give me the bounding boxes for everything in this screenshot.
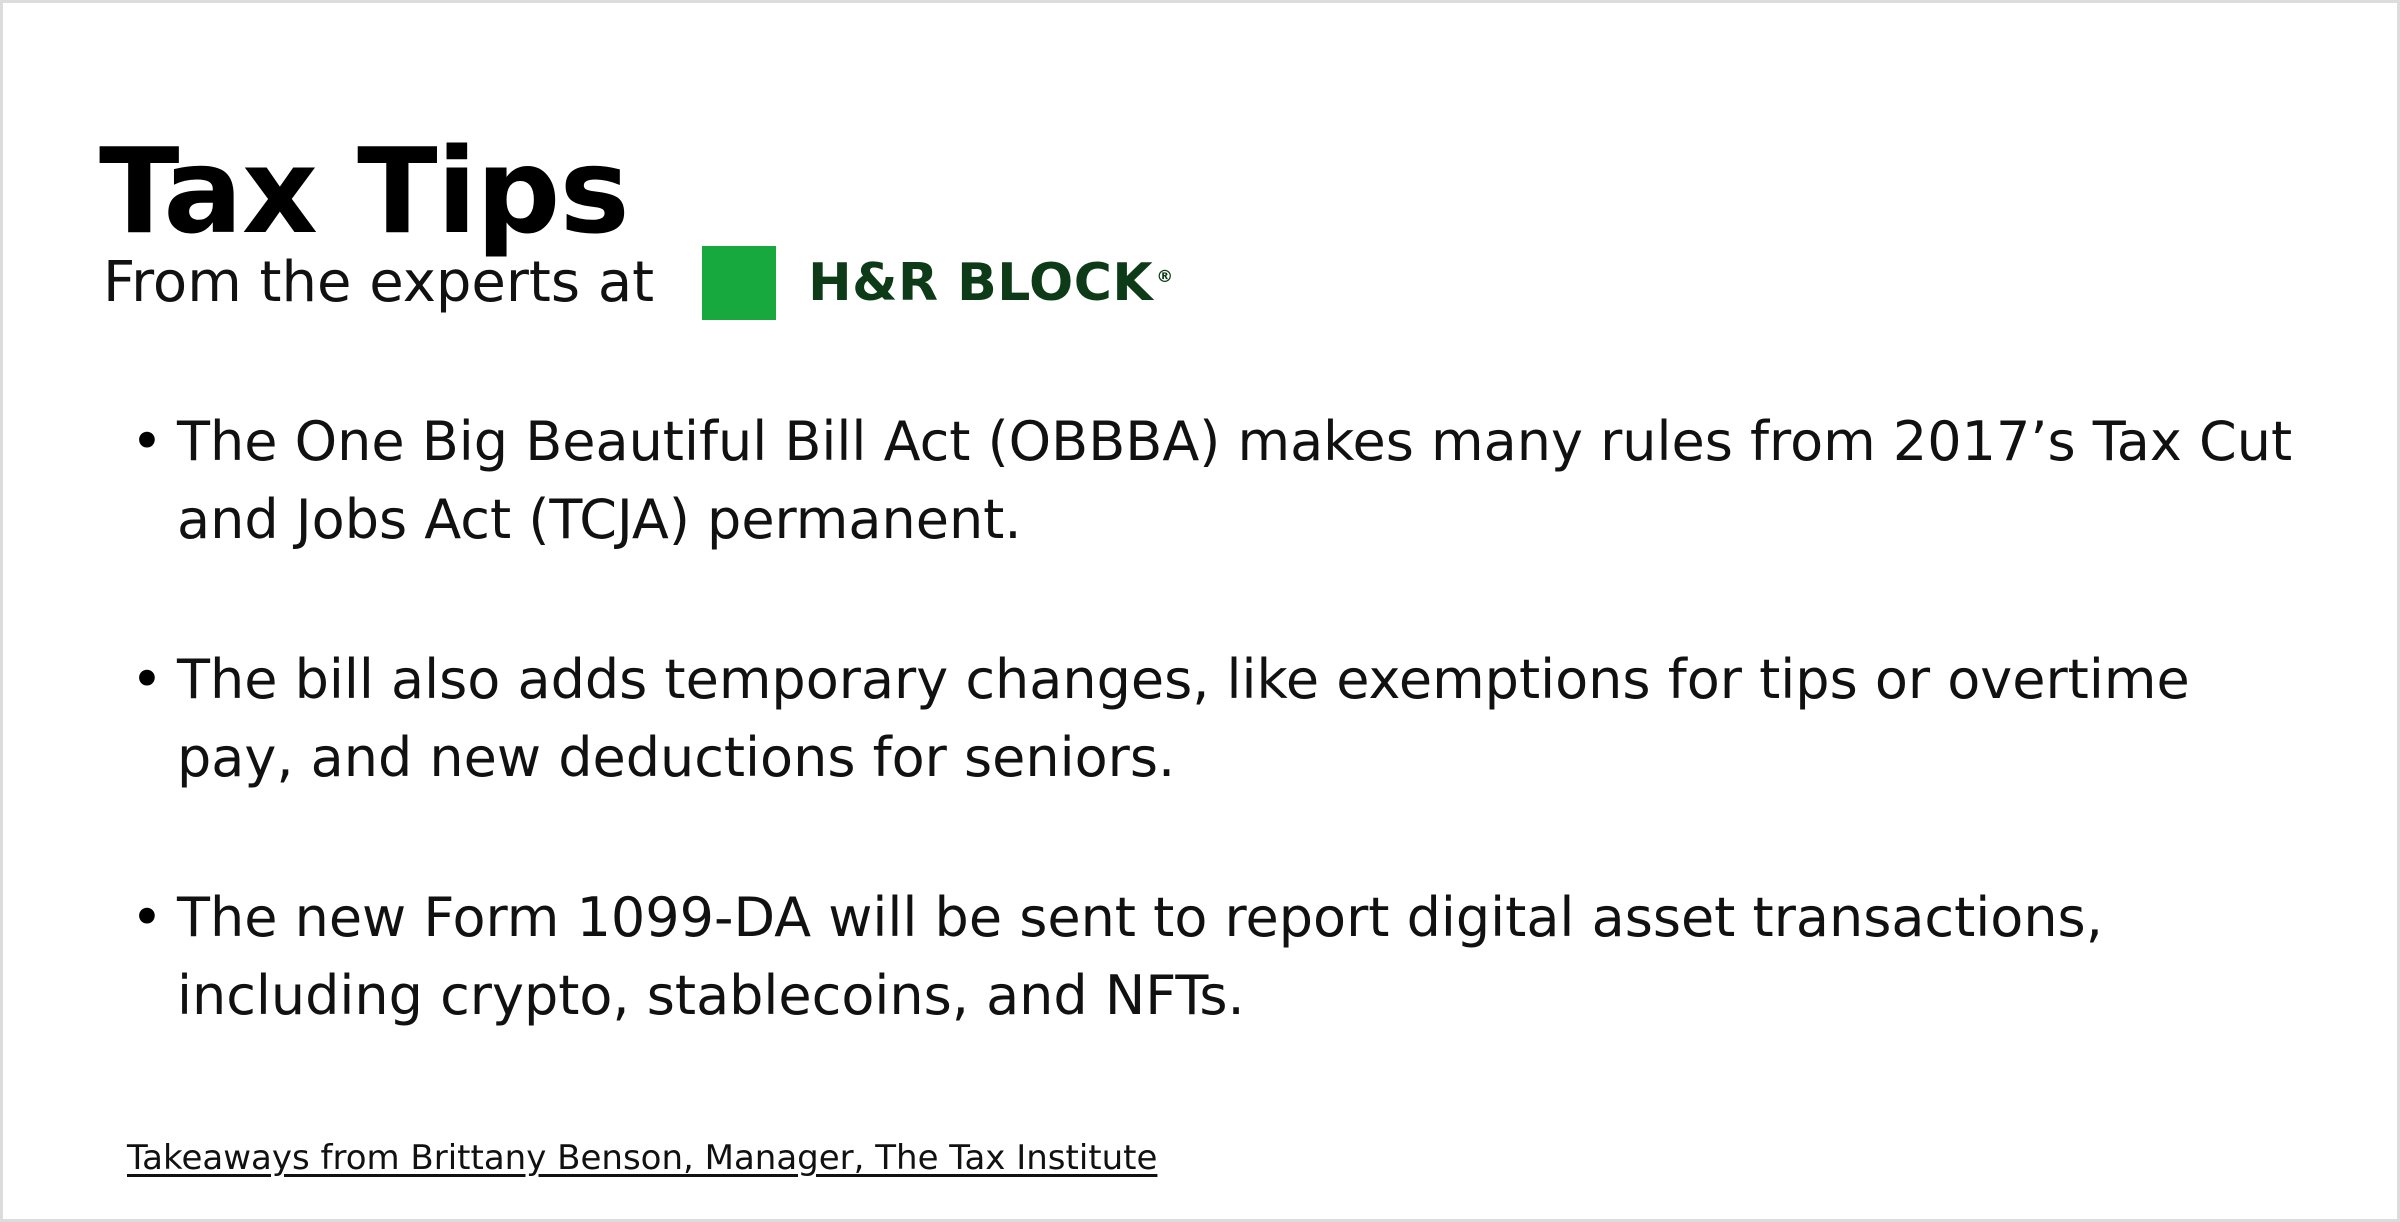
registered-trademark-icon: ® xyxy=(1156,267,1174,287)
hr-block-logo: H&R BLOCK® xyxy=(702,246,1174,320)
hr-block-green-square-icon xyxy=(702,246,776,320)
list-item: • The bill also adds temporary changes, … xyxy=(131,641,2351,797)
list-item: • The new Form 1099-DA will be sent to r… xyxy=(131,879,2351,1035)
subtitle-row: From the experts at H&R BLOCK® xyxy=(103,245,1174,321)
list-item: • The One Big Beautiful Bill Act (OBBBA)… xyxy=(131,403,2351,559)
bullet-list: • The One Big Beautiful Bill Act (OBBBA)… xyxy=(131,403,2351,1035)
hr-block-wordmark-text: H&R BLOCK xyxy=(808,253,1153,313)
list-item-text: The new Form 1099-DA will be sent to rep… xyxy=(177,879,2307,1035)
list-item-text: The One Big Beautiful Bill Act (OBBBA) m… xyxy=(177,403,2307,559)
hr-block-wordmark: H&R BLOCK® xyxy=(808,257,1174,309)
page-title: Tax Tips xyxy=(99,130,629,254)
list-item-text: The bill also adds temporary changes, li… xyxy=(177,641,2307,797)
bullet-dot-icon: • xyxy=(131,641,177,719)
footer: Takeaways from Brittany Benson, Manager,… xyxy=(127,1138,1157,1179)
bullet-dot-icon: • xyxy=(131,403,177,481)
source-credit-link[interactable]: Takeaways from Brittany Benson, Manager,… xyxy=(127,1138,1157,1178)
bullet-dot-icon: • xyxy=(131,879,177,957)
tax-tips-slide: Tax Tips From the experts at H&R BLOCK® … xyxy=(0,0,2400,1222)
subtitle-text: From the experts at xyxy=(103,255,654,311)
